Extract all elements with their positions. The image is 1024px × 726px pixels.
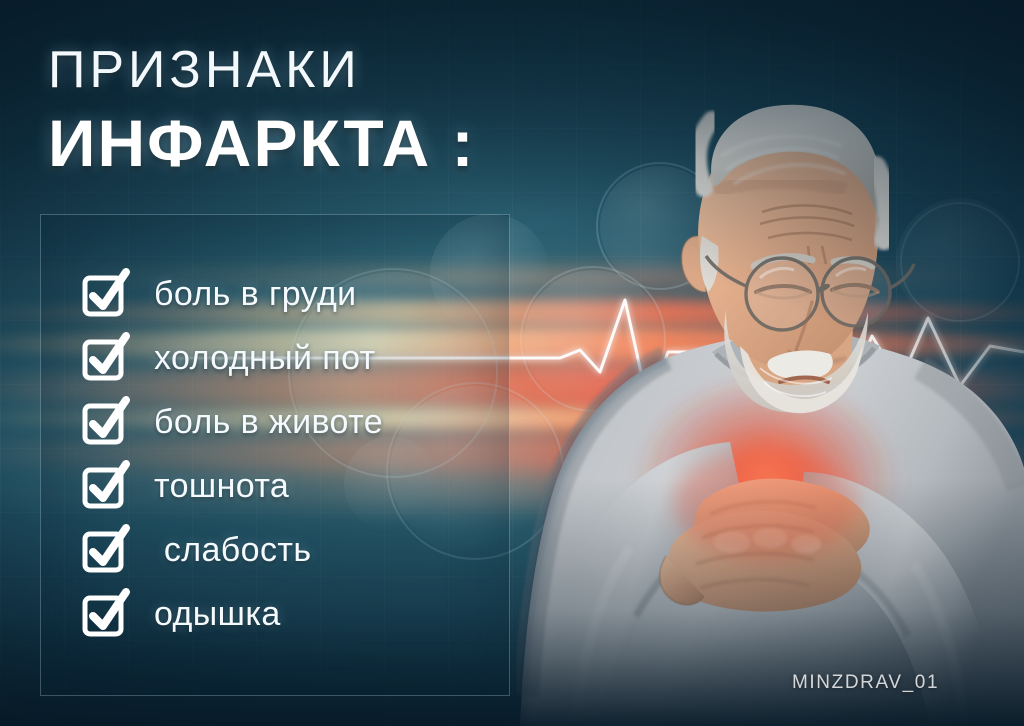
checkbox-checked-icon[interactable] <box>84 530 124 570</box>
checkbox-checked-icon[interactable] <box>84 402 124 442</box>
symptom-checklist: боль в груди холодный пот боль в животе <box>84 262 514 646</box>
checkbox-checked-icon[interactable] <box>84 466 124 506</box>
watermark: MINZDRAV_01 <box>792 672 939 694</box>
title-line-1: ПРИЗНАКИ <box>48 44 476 96</box>
checkbox-checked-icon[interactable] <box>84 594 124 634</box>
list-item[interactable]: одышка <box>84 582 514 646</box>
list-item-label: одышка <box>154 595 281 634</box>
list-item[interactable]: холодный пот <box>84 326 514 390</box>
list-item-label: боль в груди <box>154 275 357 314</box>
checkbox-checked-icon[interactable] <box>84 338 124 378</box>
list-item[interactable]: слабость <box>84 518 514 582</box>
checkbox-checked-icon[interactable] <box>84 274 124 314</box>
title-line-2: ИНФАРКТА : <box>48 110 476 176</box>
list-item-label: тошнота <box>154 467 289 506</box>
list-item-label: боль в животе <box>154 403 383 442</box>
list-item[interactable]: тошнота <box>84 454 514 518</box>
page-title: ПРИЗНАКИ ИНФАРКТА : <box>48 44 476 176</box>
list-item-label: слабость <box>154 531 311 570</box>
list-item[interactable]: боль в животе <box>84 390 514 454</box>
infographic-poster: ПРИЗНАКИ ИНФАРКТА : боль в груди холодны… <box>0 0 1024 726</box>
list-item[interactable]: боль в груди <box>84 262 514 326</box>
list-item-label: холодный пот <box>154 339 376 378</box>
